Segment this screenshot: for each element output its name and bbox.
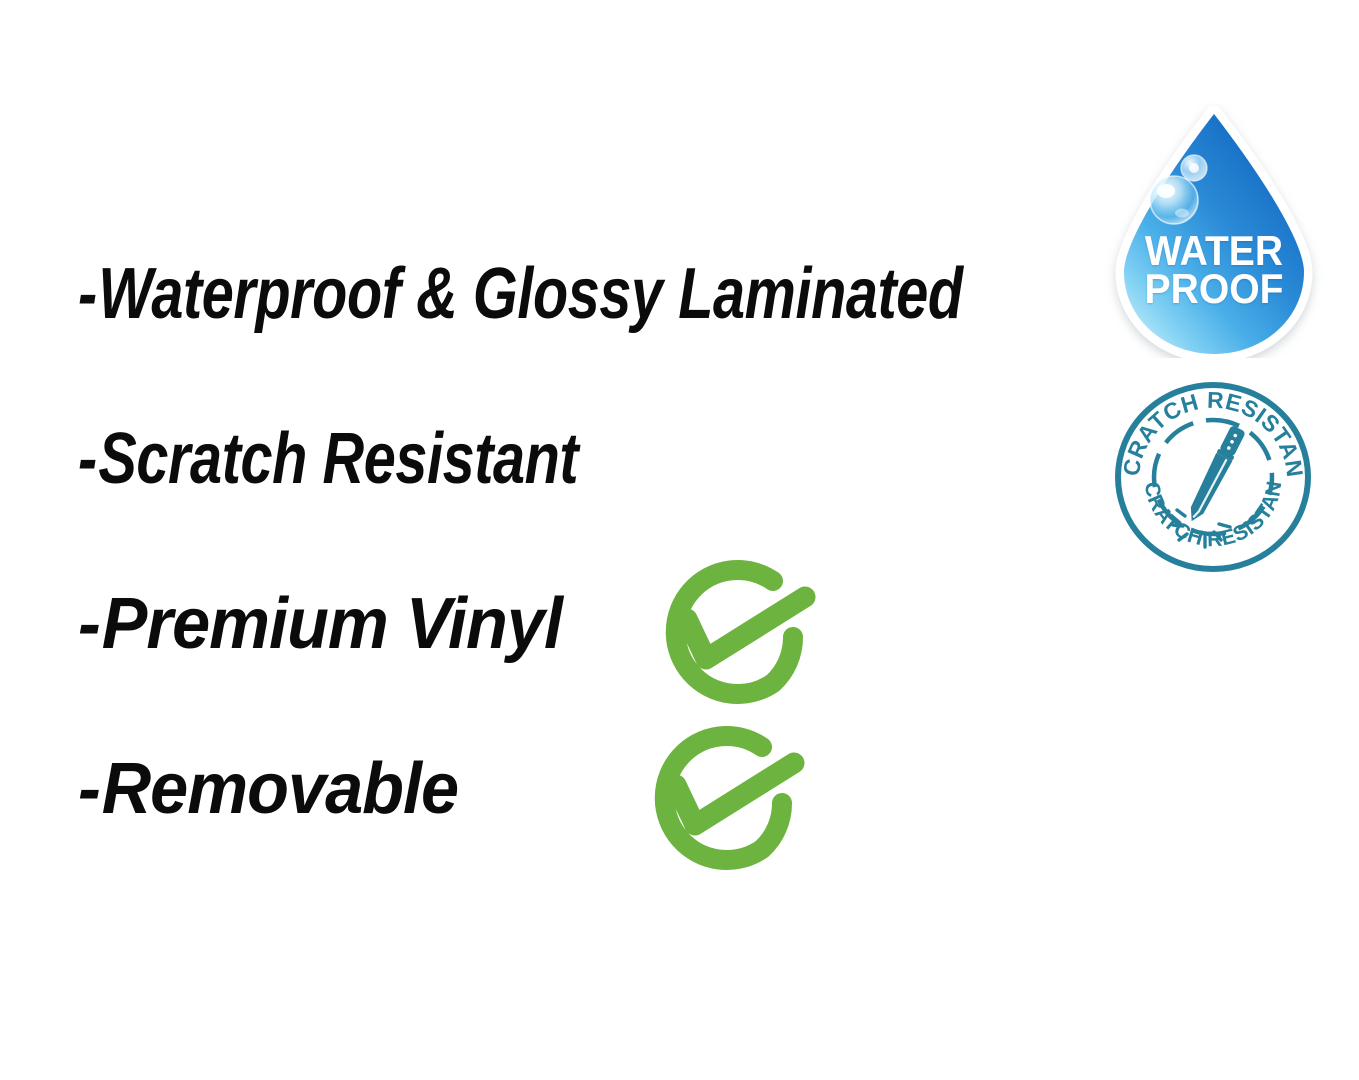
feature-item-waterproof: -Waterproof & Glossy Laminated	[78, 258, 963, 330]
check-mark-premium-vinyl	[645, 556, 831, 708]
bullet-dash-4: -	[78, 753, 100, 825]
check-circle-icon	[634, 722, 820, 874]
feature-label-1: Waterproof & Glossy Laminated	[98, 254, 962, 334]
bullet-dash-2: -	[78, 423, 97, 495]
check-circle-icon	[645, 556, 831, 708]
scratch-resistant-badge: SCRATCH RESISTANT SCRATCH RESISTANT	[1113, 380, 1313, 572]
scratch-resistant-stamp-icon: SCRATCH RESISTANT SCRATCH RESISTANT	[1113, 380, 1313, 572]
feature-list: -Waterproof & Glossy Laminated -Scratch …	[0, 0, 1100, 1080]
drop-body	[1124, 114, 1304, 354]
feature-label-3: Premium Vinyl	[102, 584, 562, 664]
waterproof-drop-badge: WATER PROOF	[1098, 103, 1330, 358]
water-bubble-large	[1150, 176, 1198, 224]
feature-item-premium-vinyl: -Premium Vinyl	[78, 588, 562, 660]
feature-label-4: Removable	[102, 749, 458, 829]
product-features-graphic: -Waterproof & Glossy Laminated -Scratch …	[0, 0, 1359, 1080]
feature-item-removable: -Removable	[78, 753, 458, 825]
bullet-dash-3: -	[78, 588, 100, 660]
badge-text-top: SCRATCH RESISTANT	[1113, 380, 1308, 479]
feature-item-scratch-resistant: -Scratch Resistant	[78, 423, 578, 495]
feature-label-2: Scratch Resistant	[98, 419, 578, 499]
water-drop-icon	[1098, 103, 1330, 358]
check-mark-removable	[634, 722, 820, 874]
knife-icon	[1184, 424, 1247, 525]
bullet-dash-1: -	[78, 258, 97, 330]
